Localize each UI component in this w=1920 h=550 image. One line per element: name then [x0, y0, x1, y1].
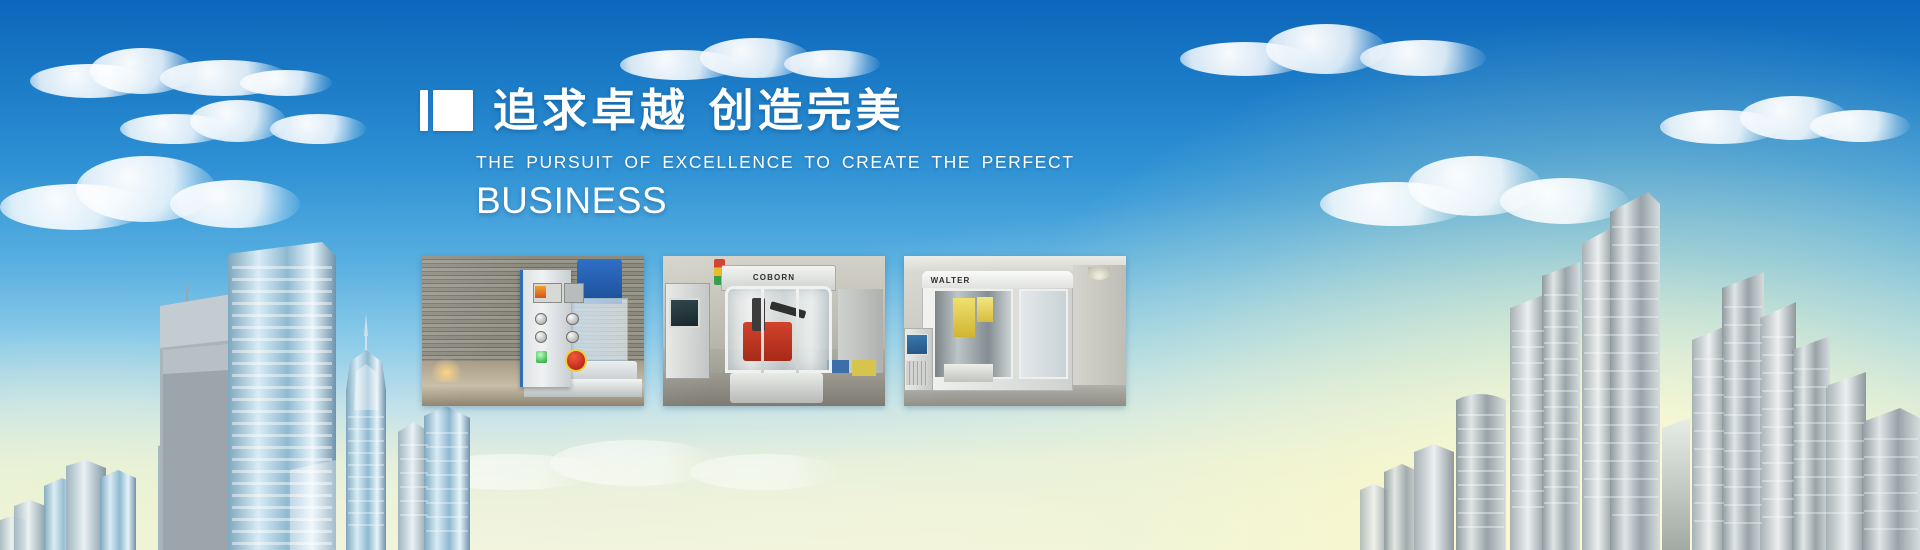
cloud-top-left — [30, 40, 330, 110]
console-keypad — [906, 361, 928, 385]
page-title: 追求卓越 创造完美 — [493, 88, 905, 133]
warm-lamp-glow — [431, 358, 462, 382]
panel-knob-4 — [566, 331, 578, 343]
cloud-far-right — [1660, 92, 1910, 152]
console-screen — [906, 334, 928, 355]
enclosure-mullion-2 — [796, 286, 799, 373]
enclosure-mullion-1 — [761, 286, 764, 373]
banner-content: 追求卓越 创造完美 THE PURSUIT OF EXCELLENCE TO C… — [420, 88, 1180, 219]
photo-cnc-surface-grinder[interactable] — [422, 256, 644, 406]
city-skyline-right — [1360, 190, 1920, 550]
cloud-left-low — [0, 150, 300, 240]
headline-row: 追求卓越 创造完美 — [420, 88, 1180, 133]
logo-square-icon — [433, 90, 473, 131]
photo-strip: COBORN WALTER — [422, 256, 1126, 406]
machine-pedestal — [730, 373, 823, 403]
panel-green-indicator — [536, 351, 547, 363]
cloud-bottom-center — [420, 430, 840, 500]
photo-coborn-rotary-grinder[interactable]: COBORN — [663, 256, 885, 406]
internal-workpiece — [944, 364, 993, 382]
internal-red-assembly — [743, 322, 792, 361]
machine-brand-label: WALTER — [931, 276, 971, 285]
machine-side-window — [1019, 289, 1068, 379]
panel-amber-indicator — [535, 286, 546, 298]
cloud-upper-mid — [120, 96, 360, 156]
internal-yellow-panel-2 — [977, 297, 993, 323]
city-skyline-left — [0, 220, 470, 550]
logo-mark — [420, 90, 473, 131]
machine-brand-label: COBORN — [753, 273, 795, 282]
yellow-crate — [852, 360, 876, 377]
panel-knob-2 — [566, 313, 578, 325]
business-word: BUSINESS — [476, 182, 1180, 219]
photo-walter-tool-grinder[interactable]: WALTER — [904, 256, 1126, 406]
subtitle-english: THE PURSUIT OF EXCELLENCE TO CREATE THE … — [476, 152, 1180, 173]
cloud-center — [620, 34, 880, 90]
operator-monitor — [669, 298, 700, 328]
cloud-right-mid — [1320, 150, 1620, 236]
internal-yellow-panel — [953, 298, 975, 337]
hero-banner: 追求卓越 创造完美 THE PURSUIT OF EXCELLENCE TO C… — [0, 0, 1920, 550]
shop-right-wall — [1073, 265, 1126, 385]
panel-display-secondary — [564, 283, 584, 303]
logo-bar-icon — [420, 90, 428, 131]
emergency-stop-button — [565, 349, 587, 372]
cloud-right-top — [1180, 20, 1480, 86]
